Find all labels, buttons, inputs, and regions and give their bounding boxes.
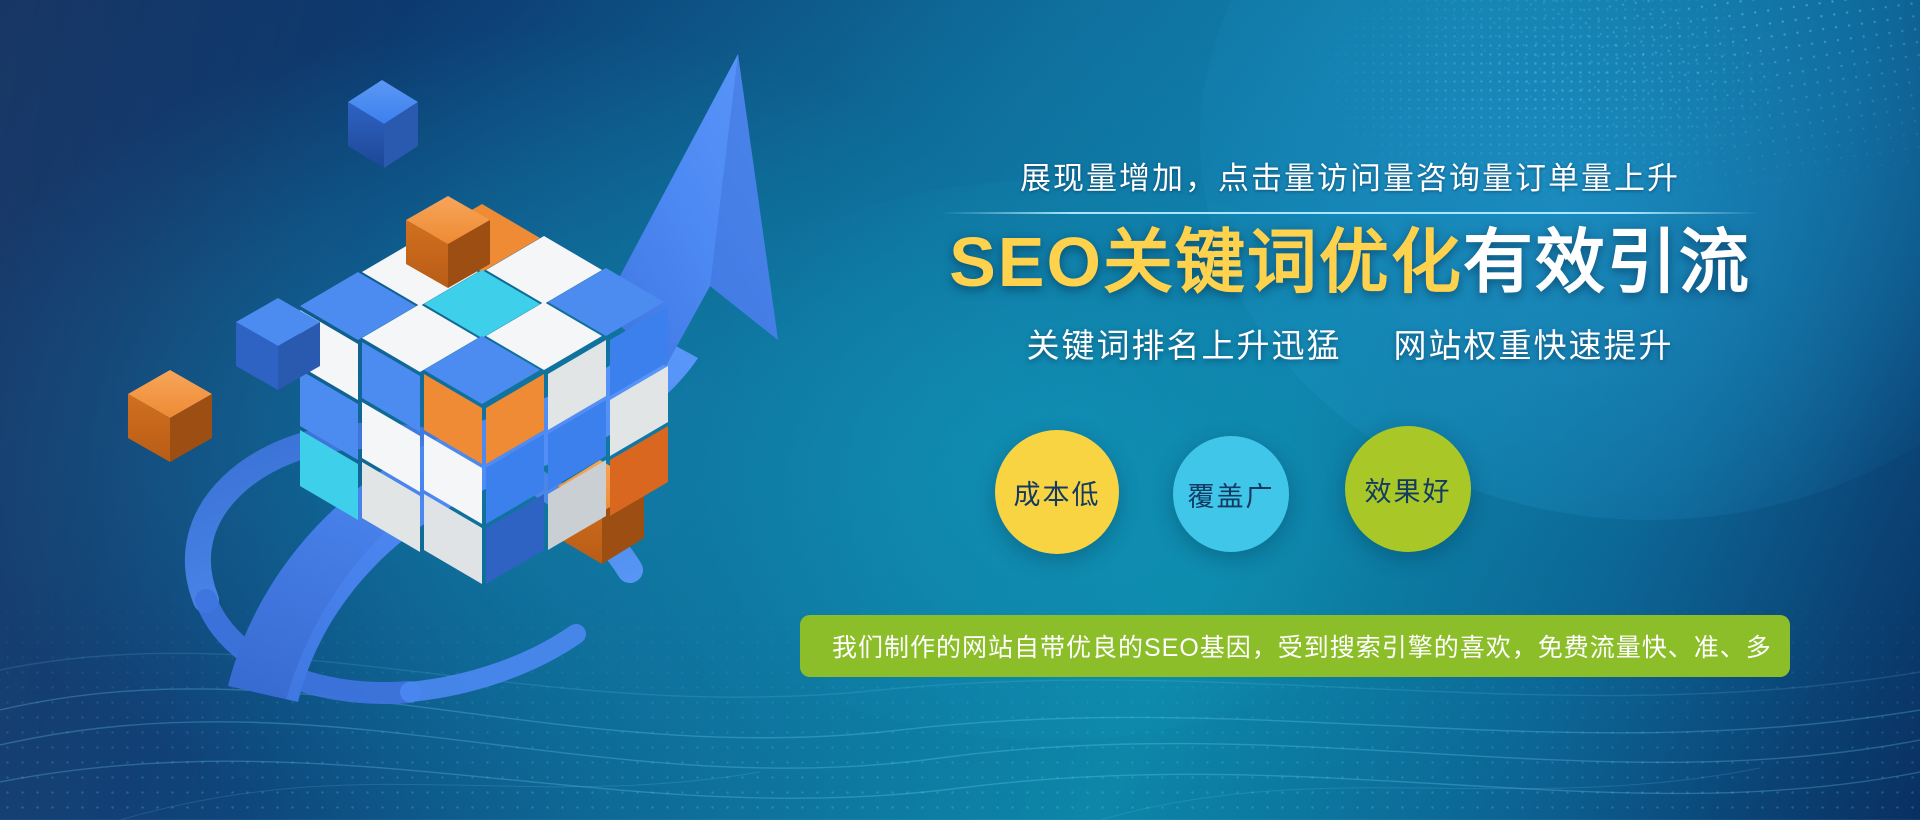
status-badge-coverage[interactable]: 覆盖广 bbox=[1173, 436, 1289, 552]
subtitle-right: 网站权重快速提升 bbox=[1394, 327, 1674, 364]
headline-rest: 有效引流 bbox=[1463, 223, 1751, 301]
growth-illustration bbox=[110, 40, 850, 780]
page-title: SEO关键词优化有效引流 bbox=[880, 223, 1820, 303]
subtitle-left: 关键词排名上升迅猛 bbox=[1027, 327, 1342, 364]
headline-block: 展现量增加，点击量访问量咨询量订单量上升 SEO关键词优化有效引流 关键词排名上… bbox=[880, 160, 1820, 367]
footer-callout: 我们制作的网站自带优良的SEO基因，受到搜索引擎的喜欢，免费流量快、准、多 bbox=[800, 615, 1790, 677]
eyebrow-text: 展现量增加，点击量访问量咨询量订单量上升 bbox=[880, 160, 1820, 197]
benefit-badges: 成本低 覆盖广 效果好 bbox=[995, 420, 1555, 550]
subtitle: 关键词排名上升迅猛网站权重快速提升 bbox=[880, 319, 1820, 367]
footer-callout-text: 我们制作的网站自带优良的SEO基因，受到搜索引擎的喜欢，免费流量快、准、多 bbox=[800, 628, 1772, 664]
headline-highlight: SEO关键词优化 bbox=[949, 223, 1463, 301]
divider bbox=[940, 212, 1760, 214]
status-badge-cost[interactable]: 成本低 bbox=[995, 430, 1119, 554]
seo-promo-banner: 展现量增加，点击量访问量咨询量订单量上升 SEO关键词优化有效引流 关键词排名上… bbox=[0, 0, 1920, 820]
status-badge-effect[interactable]: 效果好 bbox=[1345, 426, 1471, 552]
